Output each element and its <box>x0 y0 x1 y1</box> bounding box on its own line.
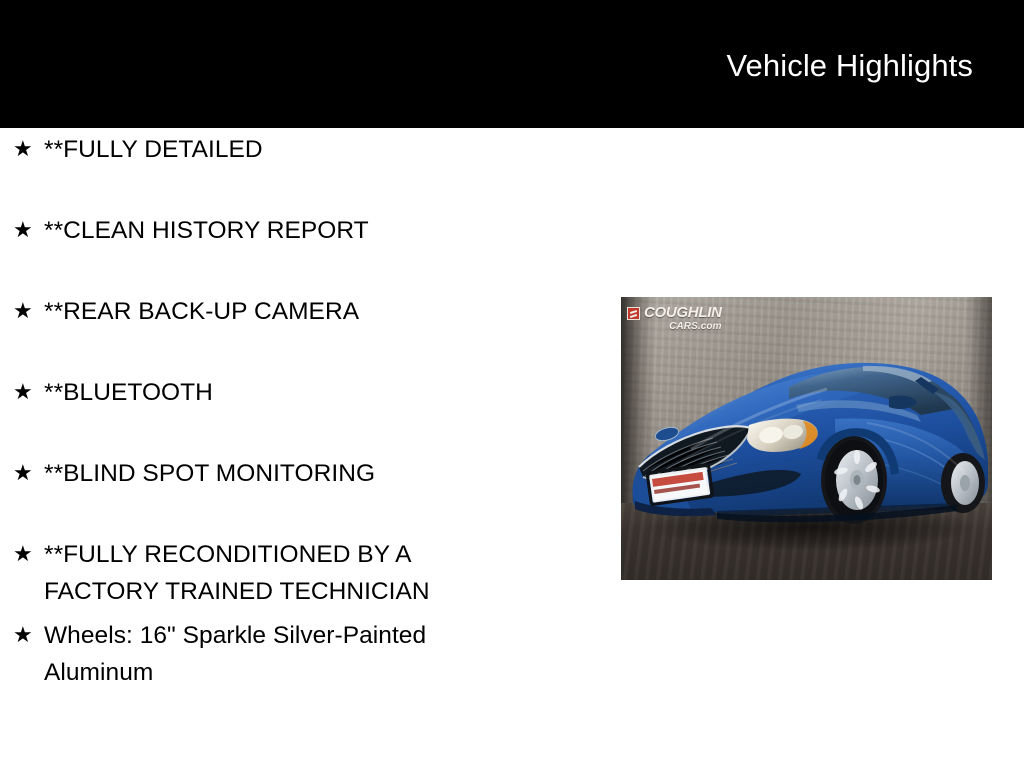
list-item: ★ **FULLY DETAILED <box>0 128 600 209</box>
watermark-brand-name: COUGHLIN <box>644 305 722 320</box>
star-bullet-icon: ★ <box>13 533 33 574</box>
coughlin-logo-icon <box>627 307 640 320</box>
list-item: ★ Wheels: 16" Sparkle Silver-Painted Alu… <box>0 614 600 695</box>
star-bullet-icon: ★ <box>13 128 33 169</box>
list-item-label: **BLIND SPOT MONITORING <box>44 452 600 492</box>
list-item: ★ **FULLY RECONDITIONED BY A FACTORY TRA… <box>0 533 600 614</box>
page-title: Vehicle Highlights <box>726 47 973 85</box>
watermark-domain: CARS.com <box>644 322 722 332</box>
star-bullet-icon: ★ <box>13 290 33 331</box>
list-item-label: **FULLY RECONDITIONED BY A FACTORY TRAIN… <box>44 533 600 610</box>
list-item-label: Wheels: 16" Sparkle Silver-Painted Alumi… <box>44 614 600 691</box>
car-illustration <box>621 297 992 580</box>
list-item-label: **CLEAN HISTORY REPORT <box>44 209 600 249</box>
list-item: ★ **REAR BACK-UP CAMERA <box>0 290 600 371</box>
header-bar: Vehicle Highlights <box>0 0 1024 128</box>
list-item: ★ **BLUETOOTH <box>0 371 600 452</box>
list-item-label: **REAR BACK-UP CAMERA <box>44 290 600 330</box>
star-bullet-icon: ★ <box>13 452 33 493</box>
star-bullet-icon: ★ <box>13 614 33 655</box>
list-item-label: **FULLY DETAILED <box>44 128 600 168</box>
star-bullet-icon: ★ <box>13 209 33 250</box>
vehicle-highlights-list: ★ **FULLY DETAILED ★ **CLEAN HISTORY REP… <box>0 128 600 695</box>
vehicle-photo: COUGHLIN CARS.com <box>621 297 992 580</box>
list-item-label: **BLUETOOTH <box>44 371 600 411</box>
list-item: ★ **CLEAN HISTORY REPORT <box>0 209 600 290</box>
list-item: ★ **BLIND SPOT MONITORING <box>0 452 600 533</box>
dealer-watermark: COUGHLIN CARS.com <box>627 305 722 332</box>
star-bullet-icon: ★ <box>13 371 33 412</box>
